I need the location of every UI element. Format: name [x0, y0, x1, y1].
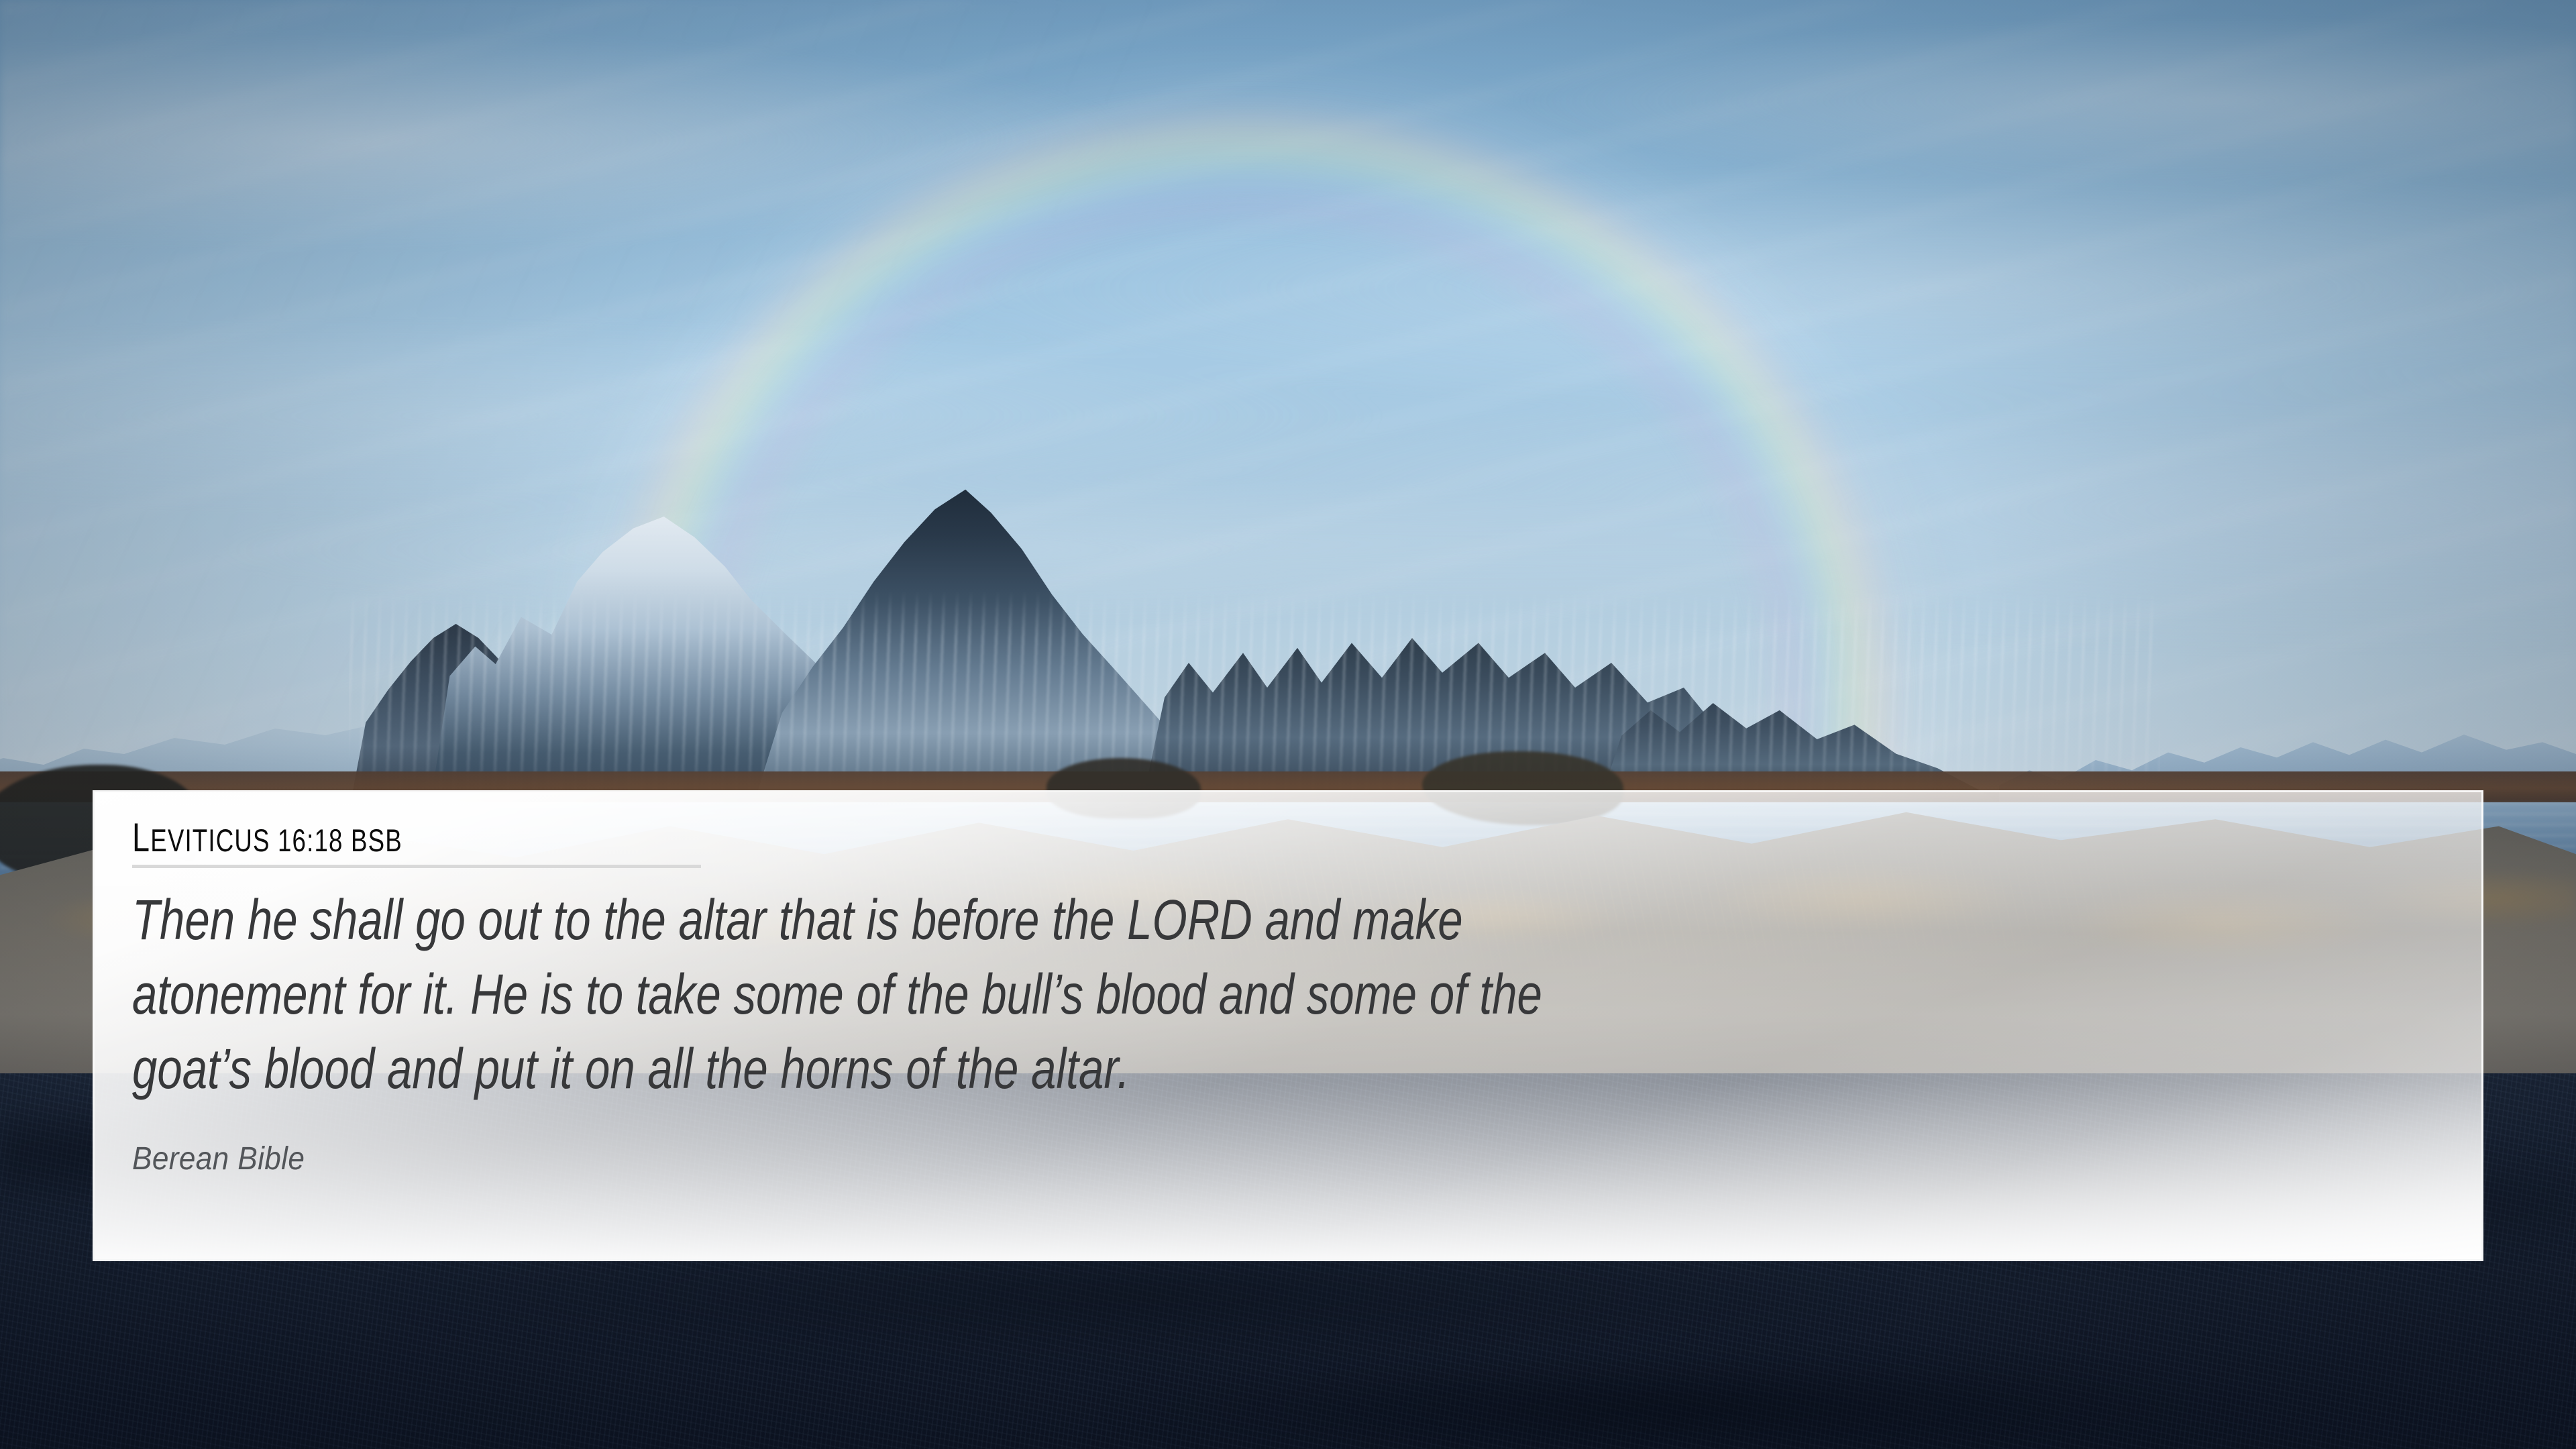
verse-reference: LEVITICUS 16:18 BSB	[132, 818, 402, 858]
verse-overlay-card: LEVITICUS 16:18 BSB Then he shall go out…	[93, 790, 2483, 1261]
verse-reference-underline	[132, 865, 701, 868]
verse-reference-chapter-verse: 16:18	[270, 822, 343, 858]
verse-reference-book: EVITICUS	[150, 822, 270, 858]
verse-text: Then he shall go out to the altar that i…	[132, 883, 2483, 1106]
verse-reference-translation: BSB	[343, 822, 402, 858]
verse-reference-initial: L	[132, 815, 150, 860]
verse-attribution: Berean Bible	[132, 1140, 305, 1177]
verse-text-line: Then he shall go out to the altar that i…	[132, 883, 2483, 957]
verse-image-canvas: LEVITICUS 16:18 BSB Then he shall go out…	[0, 0, 2576, 1449]
verse-text-line: atonement for it. He is to take some of …	[132, 957, 2483, 1032]
verse-content: LEVITICUS 16:18 BSB Then he shall go out…	[95, 792, 2481, 1259]
verse-text-line: goat’s blood and put it on all the horns…	[132, 1032, 2483, 1106]
verse-reference-block: LEVITICUS 16:18 BSB	[132, 818, 701, 868]
